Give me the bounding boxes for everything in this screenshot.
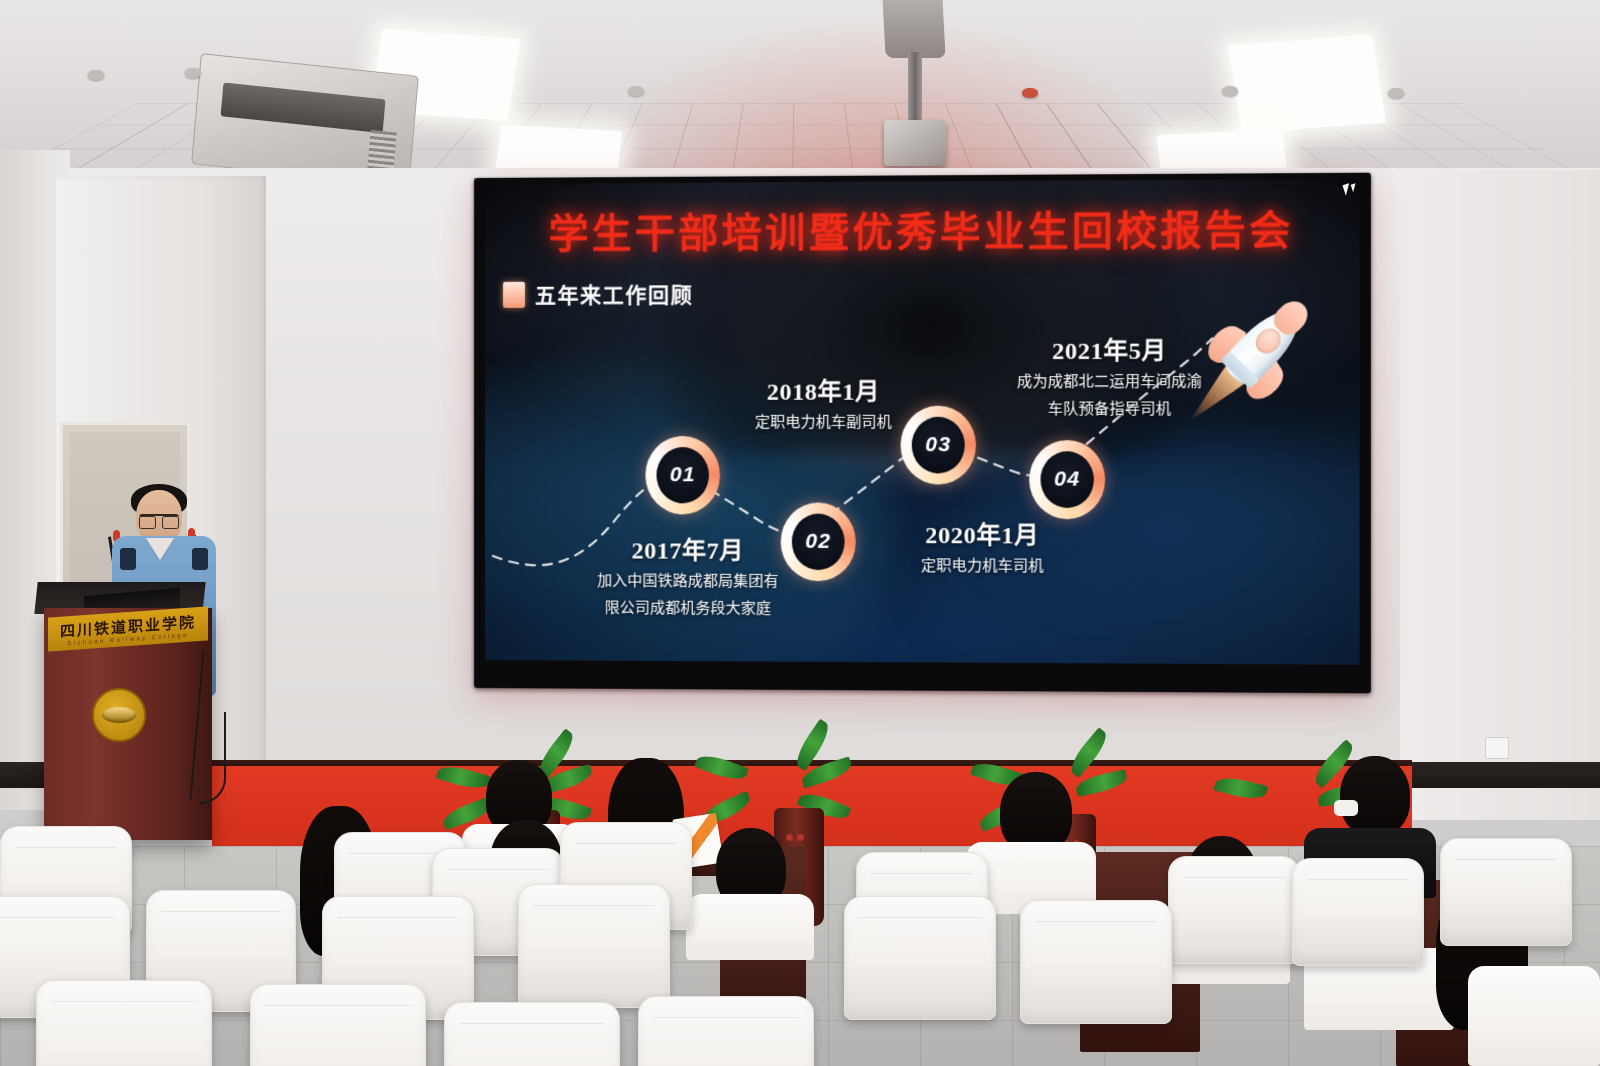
- timeline-label-03: 2020年1月 定职电力机车司机: [870, 515, 1095, 579]
- auditorium-chair[interactable]: [36, 980, 212, 1066]
- auditorium-chair[interactable]: [1440, 838, 1572, 946]
- glasses-icon: [139, 514, 179, 525]
- timeline-desc-line1: 定职电力机车司机: [870, 554, 1095, 578]
- timeline-desc-line2: 限公司成都机务段大家庭: [577, 597, 799, 621]
- timeline-node-number: 04: [1054, 467, 1080, 491]
- timeline-node-04[interactable]: 04: [1029, 440, 1105, 519]
- slide-surface: 学生干部培训暨优秀毕业生回校报告会 五年来工作回顾 01 2017年7月 加入中…: [485, 179, 1360, 665]
- timeline-year: 2018年1月: [712, 371, 935, 407]
- crest-inner: [102, 707, 136, 723]
- timeline-year: 2017年7月: [577, 530, 799, 566]
- auditorium-chair[interactable]: [444, 1002, 620, 1066]
- audience-member-head: [1340, 756, 1410, 836]
- timeline-label-02: 2018年1月 定职电力机车副司机: [712, 371, 935, 434]
- timeline-label-01: 2017年7月 加入中国铁路成都局集团有 限公司成都机务段大家庭: [577, 530, 799, 621]
- smoke-detector-icon: [1222, 86, 1238, 96]
- timeline-node-01[interactable]: 01: [645, 436, 720, 514]
- timeline-node-number: 01: [670, 463, 696, 487]
- audience-member-torso: [686, 894, 814, 960]
- smoke-detector-icon: [1022, 88, 1038, 98]
- timeline-desc-line2: 车队预备指导司机: [986, 398, 1233, 422]
- projector-icon: [884, 120, 946, 166]
- timeline-node-03[interactable]: 03: [901, 406, 976, 485]
- timeline-desc-line1: 加入中国铁路成都局集团有: [577, 569, 799, 593]
- timeline-node-number: 02: [805, 530, 831, 554]
- projector-mount: [882, 0, 945, 58]
- auditorium-chair[interactable]: [1168, 856, 1300, 964]
- auditorium-chair[interactable]: [518, 884, 670, 1008]
- lecture-hall-scene: 学生干部培训暨优秀毕业生回校报告会 五年来工作回顾 01 2017年7月 加入中…: [0, 0, 1600, 1066]
- timeline-node-number: 03: [925, 433, 951, 457]
- timeline-node-02[interactable]: 02: [781, 502, 856, 581]
- air-conditioner-unit: [191, 53, 419, 187]
- speaker-epaulet: [120, 548, 136, 570]
- timeline-desc-line1: 定职电力机车副司机: [712, 411, 935, 434]
- college-crest-icon: [92, 688, 146, 742]
- smoke-detector-icon: [628, 86, 644, 96]
- audience-member-torso: [1468, 966, 1600, 1066]
- auditorium-chair[interactable]: [1020, 900, 1172, 1024]
- auditorium-chair[interactable]: [844, 896, 996, 1020]
- smoke-detector-icon: [185, 68, 201, 78]
- microphone-cable: [200, 712, 226, 804]
- auditorium-chair[interactable]: [250, 984, 426, 1066]
- led-display-screen[interactable]: 学生干部培训暨优秀毕业生回校报告会 五年来工作回顾 01 2017年7月 加入中…: [474, 173, 1371, 694]
- speaker-epaulet: [192, 548, 208, 570]
- smoke-detector-icon: [1388, 88, 1404, 98]
- face-mask-icon: [1334, 800, 1358, 816]
- auditorium-chair[interactable]: [638, 996, 814, 1066]
- timeline-year: 2020年1月: [870, 515, 1095, 551]
- smoke-detector-icon: [88, 70, 104, 80]
- ceiling-panel-light: [1228, 35, 1386, 133]
- ac-vent: [221, 82, 386, 133]
- auditorium-chair[interactable]: [1292, 858, 1424, 966]
- right-wall: [1400, 170, 1600, 820]
- timeline: 01 2017年7月 加入中国铁路成都局集团有 限公司成都机务段大家庭 02 2…: [485, 179, 1360, 665]
- wall-outlet-icon: [1485, 737, 1509, 759]
